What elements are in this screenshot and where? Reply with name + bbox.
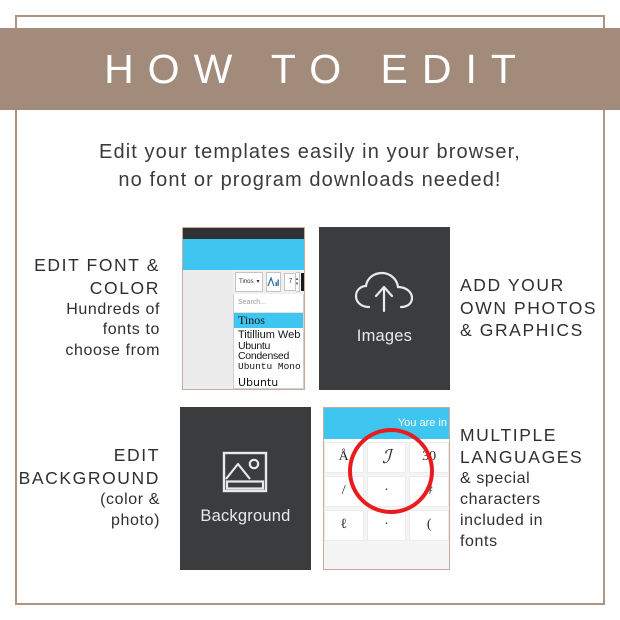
caption-body-line-3: choose from xyxy=(18,341,160,362)
caption-add-photos: ADD YOUR OWN PHOTOS & GRAPHICS xyxy=(450,274,602,342)
caption-body-line-2: fonts to xyxy=(18,320,160,341)
font-size-stepper[interactable]: ▴ ▾ xyxy=(296,272,300,292)
subtitle-line-1: Edit your templates easily in your brows… xyxy=(40,138,580,166)
caption-right-line-2: OWN PHOTOS xyxy=(460,297,602,320)
caption-heading-line-1: EDIT FONT & xyxy=(18,254,160,277)
section-edit-font-color: EDIT FONT & COLOR Hundreds of fonts to c… xyxy=(18,224,602,392)
caption2-right-line-1: MULTIPLE xyxy=(460,424,602,447)
character-cell[interactable]: ( xyxy=(409,510,449,541)
font-family-dropdown[interactable]: Tinos ▾ xyxy=(235,272,263,292)
font-size-input[interactable]: 7 xyxy=(284,273,295,291)
font-dropdown-list[interactable]: Search... Tinos Titillium Web Ubuntu Con… xyxy=(233,294,304,389)
cloud-upload-icon xyxy=(353,271,415,313)
image-placeholder-icon xyxy=(222,451,268,493)
caption-right-line-3: & GRAPHICS xyxy=(460,319,602,342)
caption2-heading-line-2: BACKGROUND xyxy=(18,467,160,490)
caption-heading-line-2: COLOR xyxy=(18,277,160,300)
character-cell[interactable]: ℓ xyxy=(324,510,364,541)
caption2-right-line-6: fonts xyxy=(460,532,602,553)
poster-page: HOW TO EDIT Edit your templates easily i… xyxy=(0,0,620,620)
caption2-body-line-1: (color & xyxy=(18,490,160,511)
subtitle-line-2: no font or program downloads needed! xyxy=(40,166,580,194)
font-search-input[interactable]: Search... xyxy=(234,294,303,313)
caption-right-line-1: ADD YOUR xyxy=(460,274,602,297)
character-cell[interactable]: · xyxy=(367,510,407,541)
caption2-right-line-5: included in xyxy=(460,511,602,532)
caption-body-line-1: Hundreds of xyxy=(18,300,160,321)
caption2-right-line-3: & special xyxy=(460,469,602,490)
images-tile-screenshot: Images xyxy=(319,227,450,390)
font-picker-screenshot: Tinos ▾ 7 ▴ ▾ Search... xyxy=(182,227,305,390)
caption-multiple-languages: MULTIPLE LANGUAGES & special characters … xyxy=(450,424,602,553)
caption2-right-line-4: characters xyxy=(460,490,602,511)
chevron-down-icon: ▾ xyxy=(256,278,259,285)
app-titlebar xyxy=(183,228,304,239)
section-edit-background: EDIT BACKGROUND (color & photo) Backgrou… xyxy=(18,404,602,572)
caption2-heading-line-1: EDIT xyxy=(18,444,160,467)
app-header-bar xyxy=(183,239,304,270)
images-upload-button[interactable]: Images xyxy=(319,227,450,390)
text-cursor xyxy=(301,273,304,291)
images-tile-label: Images xyxy=(357,327,412,346)
stepper-down-icon: ▾ xyxy=(296,282,299,287)
caption-edit-font-color: EDIT FONT & COLOR Hundreds of fonts to c… xyxy=(18,254,168,362)
font-size-icon[interactable] xyxy=(266,272,281,292)
font-option-ubuntu-condensed[interactable]: Ubuntu Condensed xyxy=(234,344,303,360)
font-toolbar: Tinos ▾ 7 ▴ ▾ xyxy=(233,270,304,295)
red-circle-highlight-icon xyxy=(348,428,434,514)
font-option-tinos[interactable]: Tinos xyxy=(234,313,303,329)
background-button[interactable]: Background xyxy=(180,407,311,570)
caption2-body-line-2: photo) xyxy=(18,511,160,532)
background-tile-screenshot: Background xyxy=(180,407,311,570)
special-characters-screenshot: You are in Å ℐ 30 / · # ℓ · ( xyxy=(323,407,450,570)
background-tile-label: Background xyxy=(200,507,290,526)
chars-header-text: You are in xyxy=(398,417,449,429)
font-option-ubuntu[interactable]: Ubuntu xyxy=(234,375,303,390)
font-family-label: Tinos xyxy=(239,279,253,285)
font-option-ubuntu-mono[interactable]: Ubuntu Mono xyxy=(234,359,303,375)
header-banner: HOW TO EDIT xyxy=(0,28,620,110)
caption2-right-line-2: LANGUAGES xyxy=(460,446,602,469)
caption-edit-background: EDIT BACKGROUND (color & photo) xyxy=(18,444,168,531)
subtitle: Edit your templates easily in your brows… xyxy=(40,138,580,195)
page-title: HOW TO EDIT xyxy=(90,49,530,90)
character-row: ℓ · ( xyxy=(324,510,449,544)
